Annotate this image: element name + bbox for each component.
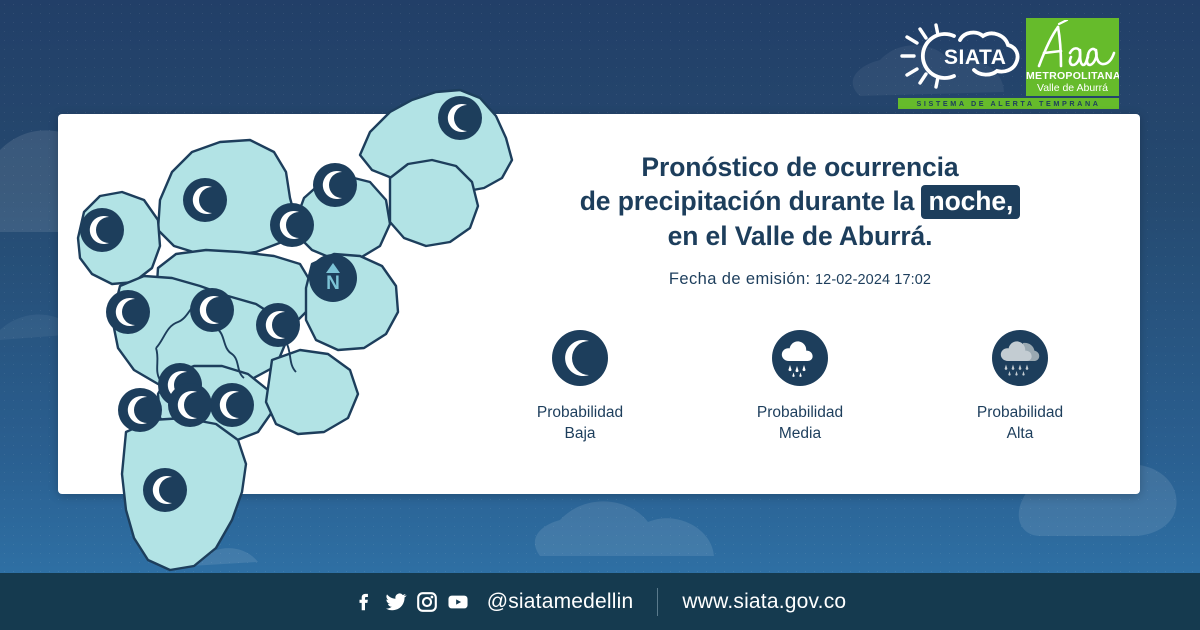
map-marker-bello <box>190 288 234 332</box>
twitter-icon[interactable] <box>385 591 407 613</box>
map-marker-guarne <box>256 303 300 347</box>
area-metropolitana-label: METROPOLITANA <box>1026 70 1119 82</box>
cloud-rain-moon-icon <box>772 330 828 386</box>
legend-item-alta: Probabilidad Alta <box>930 330 1110 444</box>
compass-rose: N <box>309 254 357 302</box>
map-marker-sabaneta <box>118 388 162 432</box>
logo-group: SIATA METROPOLITANA Valle de Aburrá SIST… <box>898 18 1123 110</box>
map-marker-caldas <box>143 468 187 512</box>
emission-date-label: Fecha de emisión: <box>669 270 811 288</box>
legend-item-baja: Probabilidad Baja <box>490 330 670 444</box>
footer-bar: @siatamedellin www.siata.gov.co <box>0 573 1200 630</box>
map-marker-san-pedro <box>80 208 124 252</box>
moon-icon <box>190 288 234 332</box>
probability-legend: Probabilidad Baja Probabilidad Media <box>470 330 1130 444</box>
moon-icon <box>256 303 300 347</box>
headline-line-1: Pronóstico de ocurrencia <box>470 150 1130 184</box>
headline-highlight-noche: noche, <box>921 185 1020 219</box>
page-title: Pronóstico de ocurrencia de precipitació… <box>470 150 1130 253</box>
moon-icon <box>438 96 482 140</box>
facebook-icon[interactable] <box>354 591 376 613</box>
legend-label-baja-line1: Probabilidad <box>537 404 623 421</box>
legend-label-alta-line2: Alta <box>1007 425 1034 442</box>
legend-label-alta: Probabilidad Alta <box>930 402 1110 444</box>
legend-item-media: Probabilidad Media <box>710 330 890 444</box>
social-icon-group <box>354 591 469 613</box>
map-marker-la-estrella <box>168 383 212 427</box>
footer-divider <box>657 588 658 616</box>
moon-icon <box>270 203 314 247</box>
youtube-icon[interactable] <box>447 591 469 613</box>
instagram-icon[interactable] <box>416 591 438 613</box>
emission-date-value: 12-02-2024 17:02 <box>815 272 931 288</box>
legend-label-media-line1: Probabilidad <box>757 404 843 421</box>
area-script-text <box>1030 20 1116 72</box>
map-marker-envigado <box>210 383 254 427</box>
legend-label-media-line2: Media <box>779 425 821 442</box>
legend-label-alta-line1: Probabilidad <box>977 404 1063 421</box>
map-marker-medellin <box>106 290 150 334</box>
map-marker-girardota <box>313 163 357 207</box>
compass-letter: N <box>326 273 340 294</box>
headline-line-2: de precipitación durante la noche, <box>470 184 1130 219</box>
legend-label-media: Probabilidad Media <box>710 402 890 444</box>
siata-logo: SIATA <box>898 20 1022 92</box>
moon-icon <box>80 208 124 252</box>
moon-icon <box>183 178 227 222</box>
moon-icon <box>143 468 187 512</box>
map-marker-copacabana <box>270 203 314 247</box>
moon-icon <box>313 163 357 207</box>
forecast-content: Pronóstico de ocurrencia de precipitació… <box>470 150 1130 289</box>
website-url[interactable]: www.siata.gov.co <box>682 590 846 614</box>
svg-text:SIATA: SIATA <box>944 46 1006 69</box>
map-marker-barbosa <box>438 96 482 140</box>
social-handle[interactable]: @siatamedellin <box>487 590 634 614</box>
cloud-heavy-rain-icon <box>992 330 1048 386</box>
moon-icon <box>106 290 150 334</box>
moon-icon <box>118 388 162 432</box>
emission-date: Fecha de emisión: 12-02-2024 17:02 <box>470 270 1130 289</box>
headline-line-3: en el Valle de Aburrá. <box>470 219 1130 253</box>
moon-icon <box>210 383 254 427</box>
valle-de-aburra-map: N <box>60 60 530 580</box>
moon-icon <box>168 383 212 427</box>
map-marker-don-matias <box>183 178 227 222</box>
legend-label-baja-line2: Baja <box>564 425 595 442</box>
area-metropolitana-logo: METROPOLITANA Valle de Aburrá <box>1026 18 1119 96</box>
alerta-temprana-bar: SISTEMA DE ALERTA TEMPRANA <box>898 98 1119 109</box>
headline-line-2-text: de precipitación durante la <box>580 186 922 216</box>
legend-label-baja: Probabilidad Baja <box>490 402 670 444</box>
area-valle-label: Valle de Aburrá <box>1026 82 1119 94</box>
moon-icon <box>552 330 608 386</box>
